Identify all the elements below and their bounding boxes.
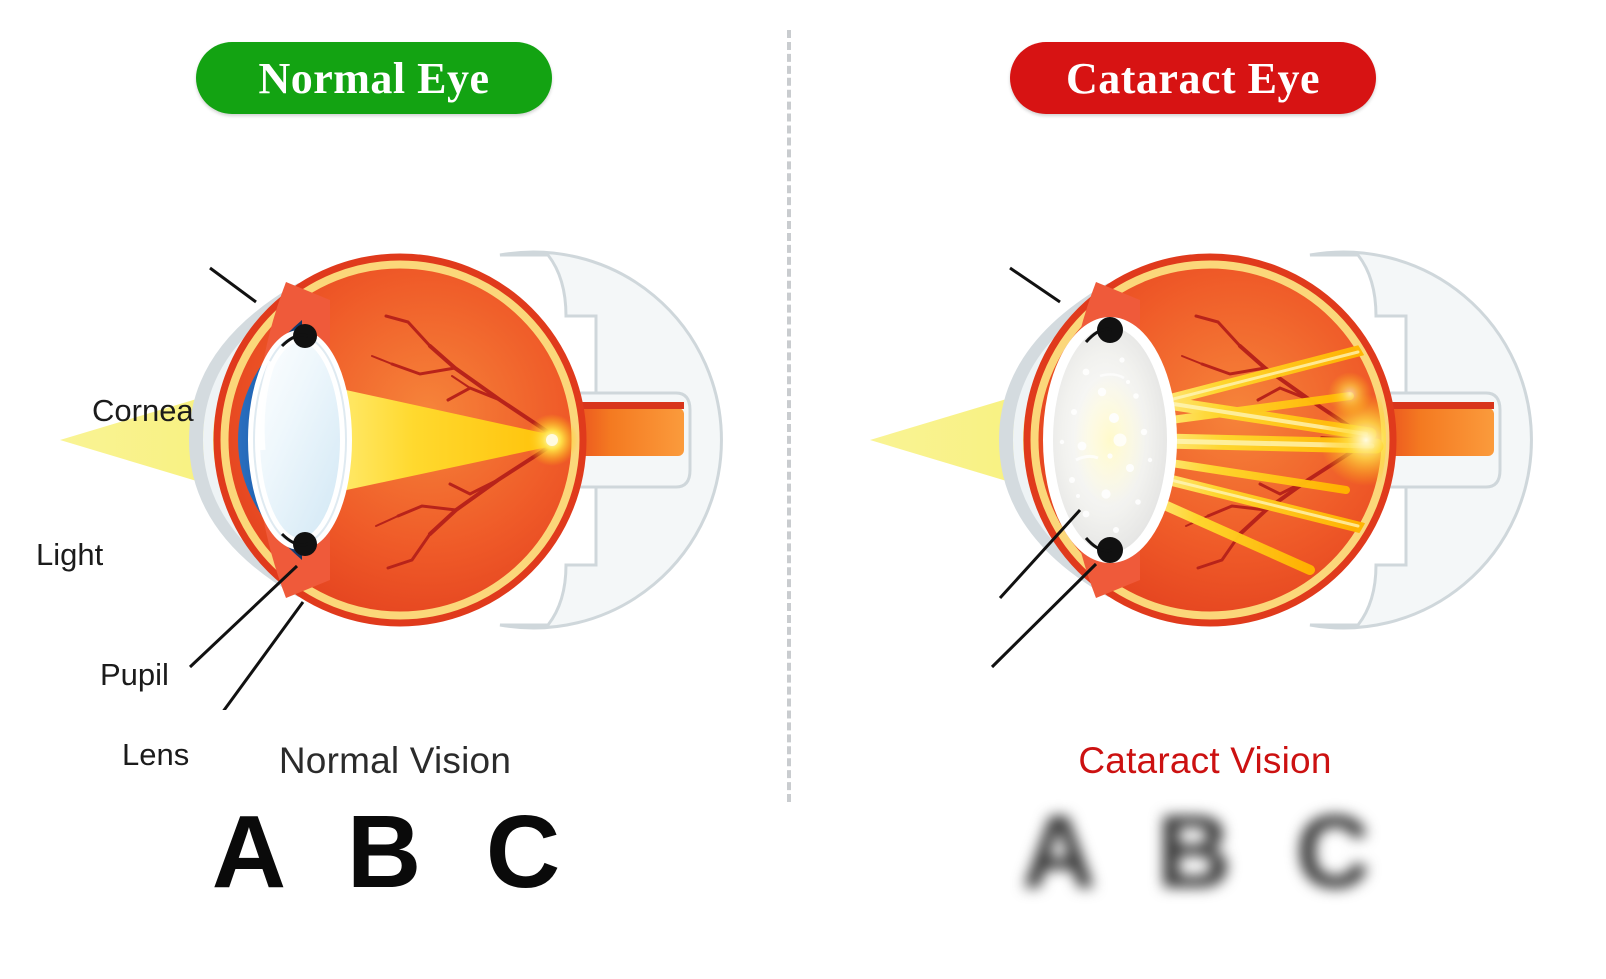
normal-vision-letters: A B C	[0, 800, 790, 903]
label-light-normal: Light	[36, 538, 103, 571]
normal-eye-panel: Cornea Light Pupil Lens	[0, 150, 790, 710]
cataract-vision-block: Cataract Vision A B C	[810, 740, 1600, 903]
normal-eye-illustration	[0, 150, 790, 710]
normal-eye-title-pill: Normal Eye	[196, 42, 552, 114]
cataract-eye-title-pill: Cataract Eye	[1010, 42, 1376, 114]
label-pupil-normal: Pupil	[100, 658, 169, 691]
cataract-vision-letters: A B C	[810, 800, 1600, 903]
cataract-eye-panel: Cornea Light Pupil Cloudy Lens	[810, 150, 1600, 710]
normal-vision-block: Normal Vision A B C	[0, 740, 790, 903]
cataract-eye-title-text: Cataract Eye	[1066, 53, 1320, 104]
diagram-stage: Normal Eye Cataract Eye	[0, 0, 1606, 979]
normal-vision-title: Normal Vision	[0, 740, 790, 782]
cataract-vision-title: Cataract Vision	[810, 740, 1600, 782]
normal-eye-title-text: Normal Eye	[258, 53, 489, 104]
label-cornea-normal: Cornea	[92, 394, 194, 427]
cataract-eye-illustration	[810, 150, 1600, 710]
